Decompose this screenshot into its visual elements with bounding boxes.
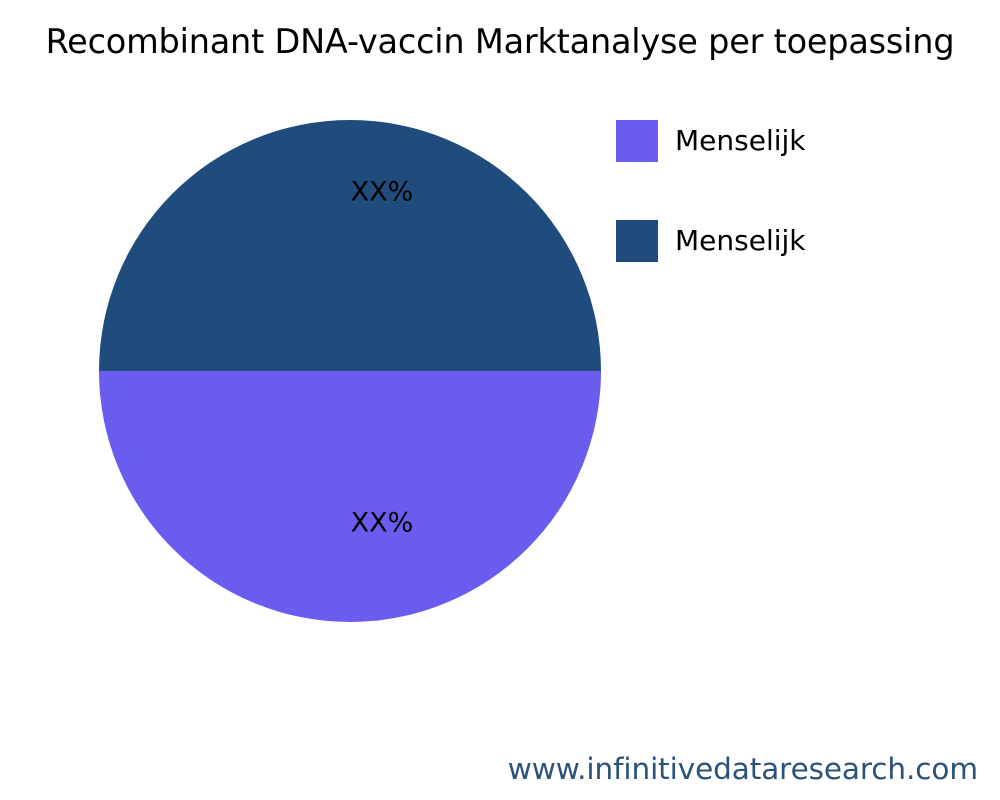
chart-figure: Recombinant DNA-vaccin Marktanalyse per … [0, 0, 1000, 800]
pie-chart-svg [99, 120, 601, 622]
source-website-url: www.infinitivedataresearch.com [508, 752, 978, 786]
legend-color-swatch-purple [616, 120, 658, 162]
chart-legend: Menselijk Menselijk [616, 120, 976, 320]
legend-item-menselijk-1[interactable]: Menselijk [616, 120, 976, 162]
legend-item-label: Menselijk [675, 227, 806, 255]
legend-item-label: Menselijk [675, 127, 806, 155]
pie-chart: XX% XX% [99, 120, 601, 622]
page-title: Recombinant DNA-vaccin Marktanalyse per … [0, 22, 1000, 62]
legend-color-swatch-darkblue [616, 220, 658, 262]
pie-slice-menselijk-2[interactable] [99, 120, 601, 371]
legend-item-menselijk-2[interactable]: Menselijk [616, 220, 976, 262]
pie-slice-menselijk-1[interactable] [99, 371, 601, 622]
